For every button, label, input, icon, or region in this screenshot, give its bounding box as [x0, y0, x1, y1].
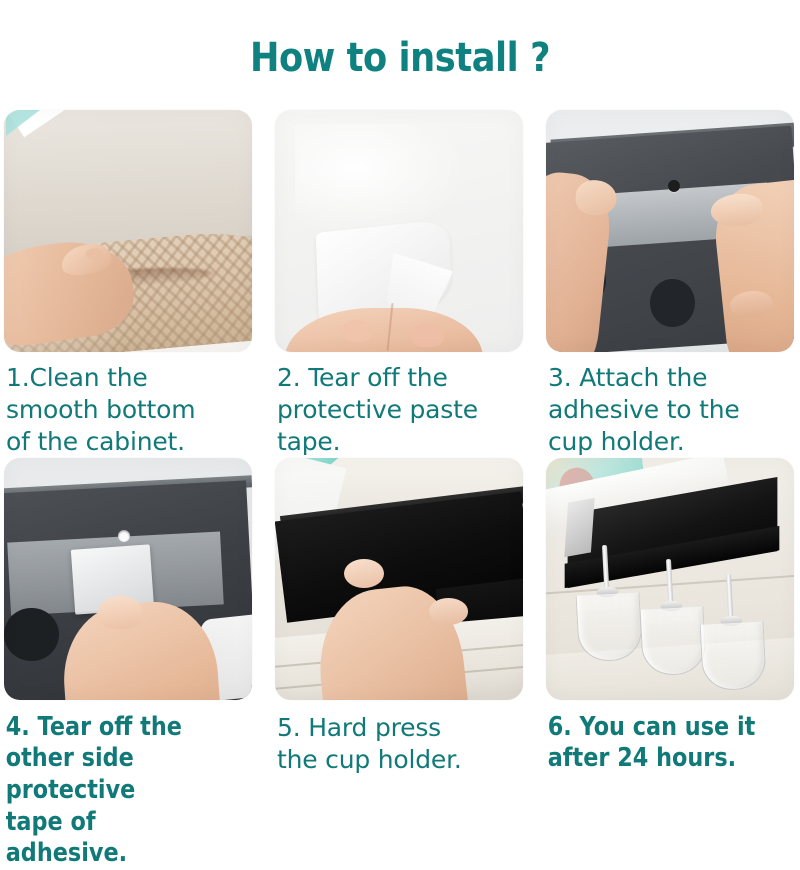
fingernail	[342, 320, 372, 342]
glass-bowl	[640, 606, 708, 677]
glass-bowl	[575, 592, 643, 663]
column-gap	[525, 110, 546, 458]
step-4-caption: 4. Tear off the other side protective ta…	[4, 700, 219, 870]
fingernail	[411, 323, 443, 347]
how-to-install-infographic: How to install ? 1.Clean the smooth bott…	[0, 27, 800, 827]
step-6-photo	[546, 458, 794, 700]
step-4-photo	[4, 458, 252, 700]
step-6-caption: 6. You can use it after 24 hours.	[546, 700, 761, 775]
teal-corner-triangle-icon	[6, 110, 40, 136]
step-2-caption: 2. Tear off the protective paste tape.	[275, 352, 525, 458]
step-6: 6. You can use it after 24 hours.	[546, 458, 796, 870]
step-5: 5. Hard press the cup holder.	[275, 458, 525, 870]
step-1-caption: 1.Clean the smooth bottom of the cabinet…	[4, 352, 254, 458]
step-5-caption: 5. Hard press the cup holder.	[275, 700, 525, 776]
fingernail	[86, 248, 103, 260]
step-1: 1.Clean the smooth bottom of the cabinet…	[4, 110, 254, 458]
fingers	[285, 308, 483, 352]
glass-bowl	[699, 621, 767, 692]
glass-slot-cutout	[4, 608, 59, 661]
column-gap	[254, 458, 275, 870]
step-2-photo	[275, 110, 523, 352]
screw-hole	[668, 180, 680, 192]
wine-glass	[573, 543, 643, 662]
step-1-photo	[4, 110, 252, 352]
finger-tip	[98, 596, 143, 630]
step-2: 2. Tear off the protective paste tape.	[275, 110, 525, 458]
glass-slot-cutout	[650, 279, 695, 327]
column-gap	[525, 458, 546, 870]
step-3-caption: 3. Attach the adhesive to the cup holder…	[546, 352, 796, 458]
steps-grid: 1.Clean the smooth bottom of the cabinet…	[0, 110, 800, 870]
column-gap	[254, 110, 275, 458]
finger-tip	[728, 289, 773, 320]
step-4: 4. Tear off the other side protective ta…	[4, 458, 254, 870]
wine-glass	[697, 572, 767, 691]
page-title: How to install ?	[48, 27, 752, 83]
background-sheen	[295, 124, 469, 235]
step-3-photo	[546, 110, 794, 352]
finger-tip	[429, 598, 469, 625]
step-5-photo	[275, 458, 523, 700]
step-3: 3. Attach the adhesive to the cup holder…	[546, 110, 796, 458]
